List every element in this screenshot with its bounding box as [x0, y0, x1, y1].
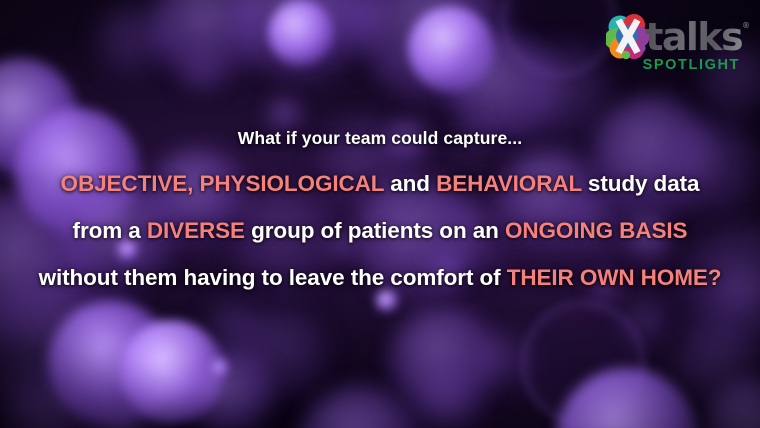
headline-accent-text: BEHAVIORAL	[436, 171, 582, 196]
webinar-slide: talks ® SPOTLIGHT What if your team coul…	[0, 0, 760, 428]
bokeh-circle	[516, 44, 612, 140]
headline-line-2: OBJECTIVE, PHYSIOLOGICAL and BEHAVIORAL …	[14, 171, 746, 197]
bokeh-circle	[268, 98, 302, 132]
bokeh-circle	[300, 386, 420, 428]
bokeh-circle	[470, 330, 532, 392]
bokeh-circle	[268, 0, 334, 66]
xtalks-x-mark-icon	[606, 14, 650, 60]
bokeh-circle	[182, 54, 222, 94]
bokeh-circle	[706, 378, 760, 428]
bokeh-circle	[212, 360, 228, 376]
bokeh-circle	[0, 372, 96, 428]
headline-plain-text: and	[384, 171, 436, 196]
bokeh-circle	[412, 366, 486, 428]
bokeh-circle	[500, 0, 618, 78]
headline-line-1: What if your team could capture...	[14, 128, 746, 149]
bokeh-circle	[520, 300, 646, 426]
bokeh-circle	[330, 0, 388, 44]
bokeh-circle	[408, 6, 494, 92]
headline-plain-text: What if your team could capture...	[238, 128, 522, 148]
bokeh-circle	[358, 0, 508, 104]
bokeh-circle	[186, 348, 274, 428]
bokeh-circle	[556, 368, 698, 428]
bokeh-circle	[90, 392, 160, 428]
headline-line-4: without them having to leave the comfort…	[14, 265, 746, 291]
headline-line-3: from a DIVERSE group of patients on an O…	[14, 218, 746, 244]
xtalks-wordmark-text: talks	[645, 15, 742, 59]
bokeh-circle	[48, 300, 174, 426]
headline-plain-text: without them having to leave the comfort…	[39, 265, 507, 290]
headline-accent-text: THEIR OWN HOME?	[507, 265, 722, 290]
xtalks-logo-main: talks ®	[606, 14, 742, 60]
headline-accent-text: DIVERSE	[147, 218, 245, 243]
headline-plain-text: from a	[73, 218, 147, 243]
xtalks-spotlight-tagline: SPOTLIGHT	[643, 58, 740, 73]
headline-block: What if your team could capture... OBJEC…	[0, 128, 760, 291]
bokeh-circle	[376, 290, 398, 312]
xtalks-logo[interactable]: talks ® SPOTLIGHT	[606, 14, 742, 73]
headline-plain-text: group of patients on an	[245, 218, 505, 243]
xtalks-wordmark: talks ®	[645, 18, 742, 56]
bokeh-circle	[96, 2, 170, 76]
bokeh-circle	[0, 268, 134, 426]
bokeh-circle	[150, 0, 270, 84]
bokeh-circle	[120, 320, 224, 424]
headline-plain-text: study data	[582, 171, 700, 196]
registered-trademark-icon: ®	[742, 22, 750, 30]
bokeh-circle	[206, 300, 264, 358]
bokeh-circle	[390, 306, 498, 414]
headline-accent-text: ONGOING BASIS	[505, 218, 687, 243]
headline-accent-text: OBJECTIVE, PHYSIOLOGICAL	[61, 171, 385, 196]
bokeh-circle	[300, 0, 378, 56]
bokeh-circle	[624, 300, 668, 344]
bokeh-circle	[232, 0, 374, 84]
bokeh-circle	[676, 318, 760, 406]
bokeh-circle	[236, 308, 328, 400]
